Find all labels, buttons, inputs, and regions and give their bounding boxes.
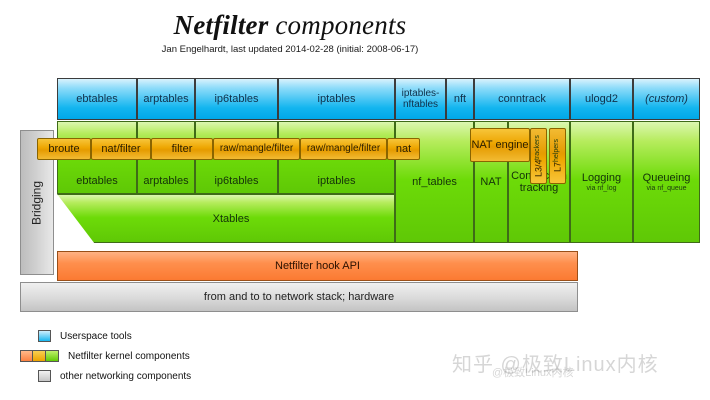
label: Netfilter hook API bbox=[275, 260, 360, 272]
legend-label: Netfilter kernel components bbox=[68, 351, 190, 362]
diagram-canvas: Netfilter components Jan Engelhardt, las… bbox=[0, 0, 710, 400]
legend-item-kernel: Netfilter kernel components bbox=[20, 350, 190, 362]
legend-item-userspace: Userspace tools bbox=[38, 330, 132, 342]
label: raw/mangle/filter bbox=[220, 143, 293, 154]
network-stack-bar: from and to to network stack; hardware bbox=[20, 282, 578, 312]
label-sub: trackers bbox=[534, 135, 542, 160]
label: ulogd2 bbox=[585, 93, 618, 105]
userspace-tool-ebtables[interactable]: ebtables bbox=[57, 78, 137, 120]
label: NAT engine bbox=[471, 139, 528, 152]
xtables-block[interactable]: Xtables bbox=[57, 194, 395, 243]
label: nat bbox=[396, 143, 411, 155]
label: iptables-nftables bbox=[396, 88, 445, 110]
userspace-tool-ip6tables[interactable]: ip6tables bbox=[195, 78, 278, 120]
label-sub: via nf_log bbox=[587, 185, 617, 193]
table-filter[interactable]: filter bbox=[151, 138, 213, 160]
kernel-block-queueing[interactable]: Queueing via nf_queue bbox=[633, 121, 700, 243]
legend-swatch-gray-icon bbox=[38, 370, 51, 382]
table-nat-filter[interactable]: nat/filter bbox=[91, 138, 151, 160]
kernel-block-logging[interactable]: Logging via nf_log bbox=[570, 121, 633, 243]
watermark: 知乎 @极致Linux内核 @极致Linux内核 bbox=[452, 348, 702, 388]
table-raw-mangle-filter-ip4[interactable]: raw/mangle/filter bbox=[300, 138, 387, 160]
userspace-tool-custom[interactable]: (custom) bbox=[633, 78, 700, 120]
label: from and to to network stack; hardware bbox=[204, 291, 394, 303]
label-sub: helpers bbox=[553, 140, 561, 163]
label: raw/mangle/filter bbox=[307, 143, 380, 154]
label: nf_tables bbox=[412, 176, 457, 188]
legend-swatch-blue-icon bbox=[38, 330, 51, 342]
label: arptables bbox=[143, 175, 188, 187]
userspace-tool-iptables[interactable]: iptables bbox=[278, 78, 395, 120]
label: conntrack bbox=[498, 93, 546, 105]
table-broute[interactable]: broute bbox=[37, 138, 91, 160]
title-bold: Netfilter bbox=[174, 10, 269, 40]
label: iptables bbox=[318, 175, 356, 187]
label: arptables bbox=[143, 93, 188, 105]
userspace-tool-arptables[interactable]: arptables bbox=[137, 78, 195, 120]
label: broute bbox=[48, 143, 79, 155]
label: filter bbox=[172, 143, 193, 155]
label: iptables bbox=[318, 93, 356, 105]
netfilter-hook-api[interactable]: Netfilter hook API bbox=[57, 251, 578, 281]
label-sub: via nf_queue bbox=[646, 185, 686, 193]
legend-label: other networking components bbox=[60, 371, 191, 382]
label: Queueing bbox=[643, 172, 691, 184]
userspace-tool-conntrack[interactable]: conntrack bbox=[474, 78, 570, 120]
legend-item-other: other networking components bbox=[38, 370, 191, 382]
label: L3/4 bbox=[533, 160, 543, 178]
label: Bridging bbox=[30, 180, 43, 224]
label: nft bbox=[454, 93, 466, 105]
label: nat/filter bbox=[101, 143, 140, 155]
label: ip6tables bbox=[214, 93, 258, 105]
userspace-tool-iptables-nftables[interactable]: iptables-nftables bbox=[395, 78, 446, 120]
label: Xtables bbox=[203, 213, 250, 225]
l7-helpers-box[interactable]: L7helpers bbox=[549, 128, 566, 184]
label: Logging bbox=[582, 172, 621, 184]
table-raw-mangle-filter-ip6[interactable]: raw/mangle/filter bbox=[213, 138, 300, 160]
label: L7 bbox=[552, 162, 562, 172]
label: ebtables bbox=[76, 175, 118, 187]
page-subtitle: Jan Engelhardt, last updated 2014-02-28 … bbox=[80, 44, 500, 55]
label: ebtables bbox=[76, 93, 118, 105]
label: (custom) bbox=[645, 93, 688, 105]
userspace-tool-nft[interactable]: nft bbox=[446, 78, 474, 120]
legend-label: Userspace tools bbox=[60, 331, 132, 342]
label: NAT bbox=[480, 176, 501, 188]
legend-swatch-triple-icon bbox=[20, 350, 59, 362]
l34-trackers-box[interactable]: L3/4trackers bbox=[530, 128, 547, 184]
title-italic: components bbox=[275, 10, 406, 40]
userspace-tool-ulogd2[interactable]: ulogd2 bbox=[570, 78, 633, 120]
label: ip6tables bbox=[214, 175, 258, 187]
watermark-sub: @极致Linux内核 bbox=[492, 364, 573, 380]
nat-engine-box[interactable]: NAT engine bbox=[470, 128, 530, 162]
table-nat[interactable]: nat bbox=[387, 138, 420, 160]
page-title: Netfilter components bbox=[80, 10, 500, 41]
